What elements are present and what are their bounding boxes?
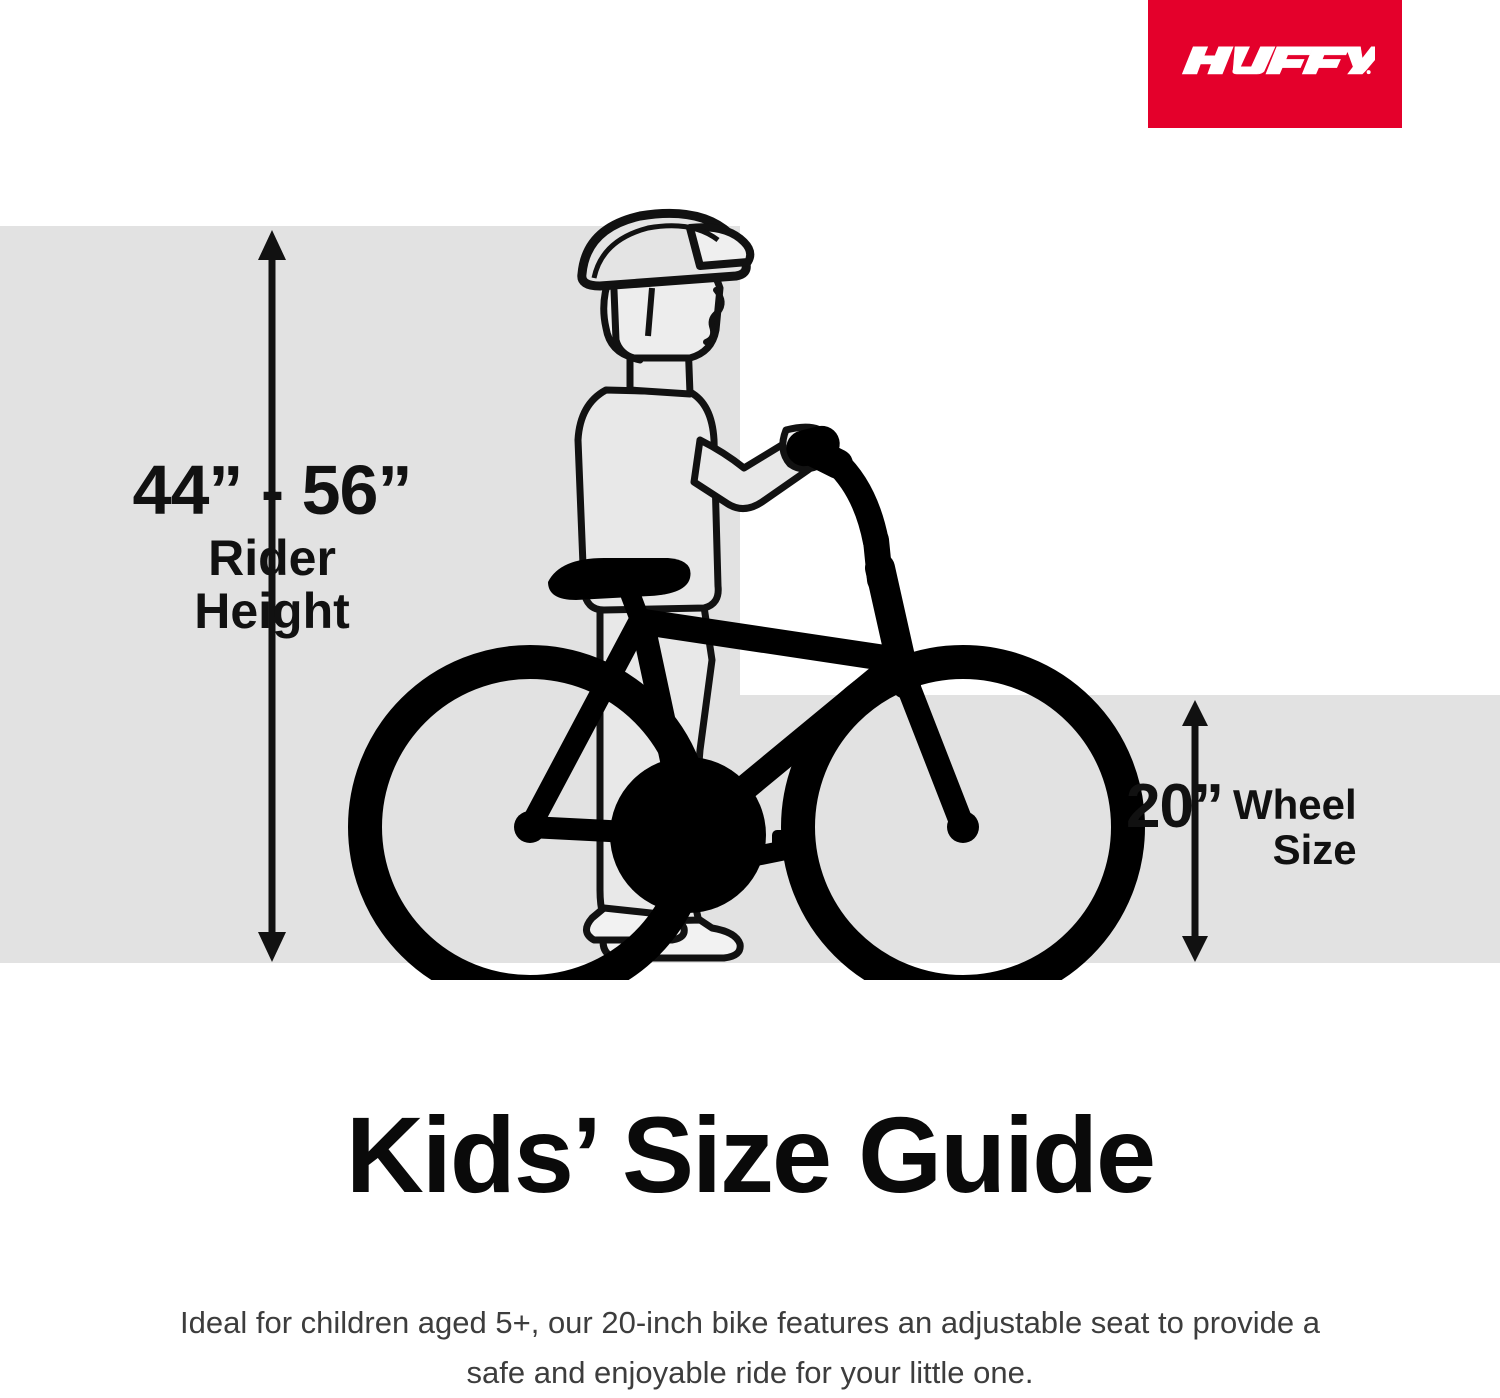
registered-mark-icon — [1367, 70, 1371, 74]
rider-height-label-line-1: Rider — [72, 532, 472, 585]
rider-height-label-line-2: Height — [72, 585, 472, 638]
wheel-size-callout: 20” Wheel Size — [1126, 776, 1357, 873]
page-title: Kids’ Size Guide — [0, 1098, 1500, 1211]
rider-height-value: 44” - 56” — [72, 455, 472, 526]
wheel-size-value: 20” — [1126, 776, 1223, 838]
page-description: Ideal for children aged 5+, our 20-inch … — [180, 1298, 1320, 1398]
rider-height-label: Rider Height — [72, 532, 472, 637]
wheel-size-label-line-2: Size — [1233, 827, 1357, 872]
wheel-size-label: Wheel Size — [1233, 776, 1357, 873]
huffy-logo — [1148, 0, 1402, 128]
wheel-size-label-line-1: Wheel — [1233, 782, 1357, 827]
rider-height-callout: 44” - 56” Rider Height — [72, 455, 472, 637]
huffy-wordmark-icon — [1175, 43, 1375, 85]
